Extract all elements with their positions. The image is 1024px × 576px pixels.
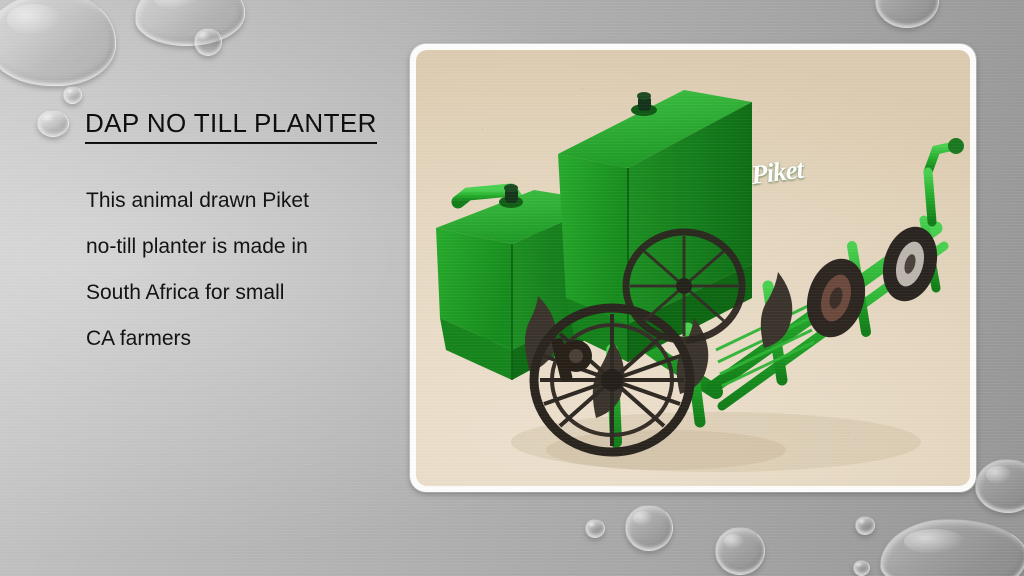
- water-droplet-icon: [853, 560, 870, 576]
- water-droplet-icon: [625, 505, 673, 551]
- photo-frame: Piket: [410, 44, 976, 492]
- water-droplet-icon: [194, 28, 222, 56]
- page-title: DAP NO TILL PLANTER: [85, 108, 377, 144]
- slide: DAP NO TILL PLANTER This animal drawn Pi…: [0, 0, 1024, 576]
- planter-photo: Piket: [416, 50, 970, 486]
- body-text: This animal drawn Piket no-till planter …: [86, 178, 406, 362]
- water-droplet-icon: [715, 527, 765, 575]
- piket-brand-mark: Piket: [749, 154, 804, 191]
- water-droplet-icon: [975, 459, 1024, 513]
- water-droplet-icon: [875, 0, 939, 28]
- water-droplet-icon: [63, 86, 82, 104]
- body-line: South Africa for small: [86, 270, 406, 316]
- water-droplet-icon: [585, 519, 605, 538]
- water-droplet-icon: [0, 0, 116, 86]
- body-line: CA farmers: [86, 316, 406, 362]
- planter-illustration: [416, 50, 970, 486]
- water-droplet-icon: [855, 516, 875, 535]
- body-line: This animal drawn Piket: [86, 178, 406, 224]
- water-droplet-icon: [880, 519, 1024, 576]
- water-droplet-icon: [135, 0, 245, 46]
- water-droplet-icon: [37, 110, 69, 137]
- body-line: no-till planter is made in: [86, 224, 406, 270]
